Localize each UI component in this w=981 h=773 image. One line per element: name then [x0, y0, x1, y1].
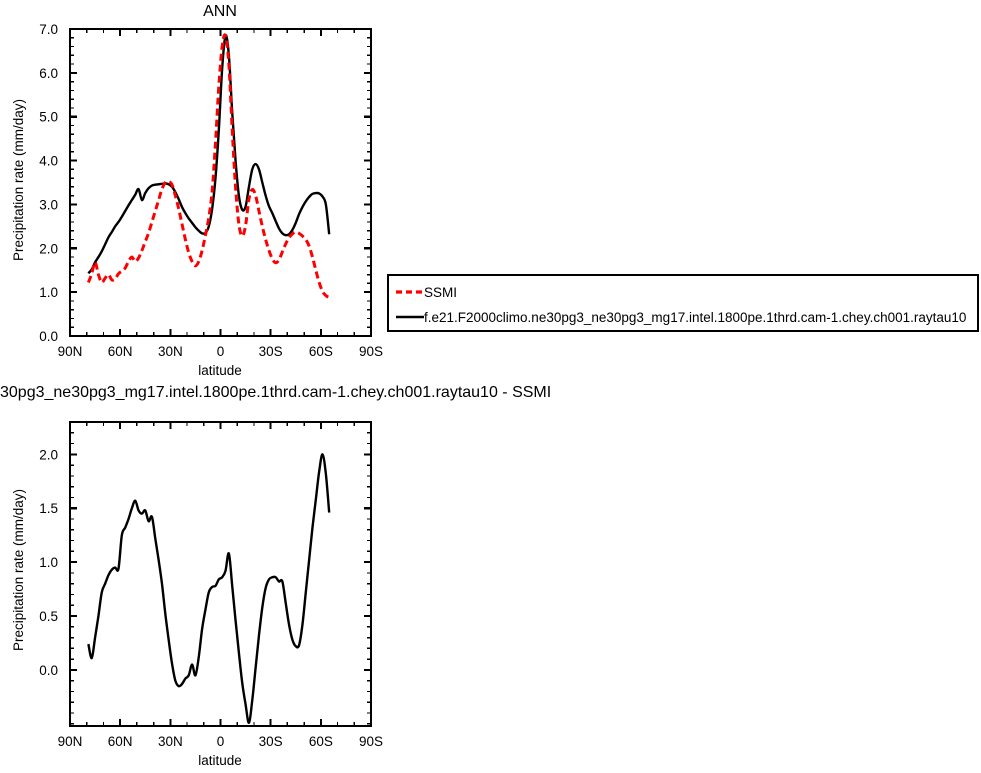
- legend-label-model: f.e21.F2000climo.ne30pg3_ne30pg3_mg17.in…: [424, 310, 966, 325]
- y-tick-label: 2.0: [39, 241, 58, 256]
- x-tick-label: 30N: [158, 344, 183, 359]
- y-tick-label: 1.5: [39, 501, 58, 516]
- x-tick-label: 0: [217, 734, 225, 749]
- y-tick-label: 6.0: [39, 66, 58, 81]
- x-tick-label: 30S: [259, 734, 283, 749]
- bottom-panel-tick-labels: 90N60N30N030S60S90S0.00.51.01.52.0: [39, 447, 383, 749]
- top-panel-ylabel: Precipitation rate (mm/day): [11, 99, 26, 261]
- x-tick-label: 90S: [359, 344, 383, 359]
- legend: SSMI f.e21.F2000climo.ne30pg3_ne30pg3_mg…: [388, 275, 978, 331]
- x-tick-label: 90N: [58, 734, 83, 749]
- series-path: [88, 454, 329, 722]
- y-tick-label: 4.0: [39, 154, 58, 169]
- top-panel-axes: [70, 29, 371, 336]
- series-path: [88, 35, 329, 273]
- series-path: [88, 35, 329, 298]
- bottom-panel-xlabel: latitude: [198, 753, 242, 768]
- top-panel-series: [88, 35, 329, 298]
- figure-canvas: ANN 90N60N30N030S60S90S0.01.02.03.04.05.…: [0, 0, 981, 773]
- x-tick-label: 60N: [108, 344, 133, 359]
- y-tick-label: 0.5: [39, 609, 58, 624]
- x-tick-label: 30S: [259, 344, 283, 359]
- figure-root: ANN 90N60N30N030S60S90S0.01.02.03.04.05.…: [0, 0, 981, 773]
- x-tick-label: 90S: [359, 734, 383, 749]
- legend-label-ssmi: SSMI: [424, 285, 457, 300]
- bottom-panel-ylabel: Precipitation rate (mm/day): [11, 489, 26, 651]
- y-tick-label: 3.0: [39, 197, 58, 212]
- x-tick-label: 90N: [58, 344, 83, 359]
- x-tick-label: 60N: [108, 734, 133, 749]
- y-tick-label: 5.0: [39, 110, 58, 125]
- bottom-panel-series: [88, 454, 329, 722]
- x-tick-label: 60S: [309, 734, 333, 749]
- difference-panel-title: 30pg3_ne30pg3_mg17.intel.1800pe.1thrd.ca…: [0, 384, 551, 401]
- top-panel-xlabel: latitude: [198, 363, 242, 378]
- x-tick-label: 60S: [309, 344, 333, 359]
- y-tick-label: 7.0: [39, 22, 58, 37]
- y-tick-label: 0.0: [39, 329, 58, 344]
- y-tick-label: 1.0: [39, 555, 58, 570]
- y-tick-label: 1.0: [39, 285, 58, 300]
- y-tick-label: 2.0: [39, 447, 58, 462]
- y-tick-label: 0.0: [39, 663, 58, 678]
- top-panel: ANN 90N60N30N030S60S90S0.01.02.03.04.05.…: [11, 3, 383, 378]
- x-tick-label: 30N: [158, 734, 183, 749]
- bottom-panel: 90N60N30N030S60S90S0.00.51.01.52.0 latit…: [11, 422, 383, 768]
- x-tick-label: 0: [217, 344, 225, 359]
- top-panel-title: ANN: [203, 3, 237, 20]
